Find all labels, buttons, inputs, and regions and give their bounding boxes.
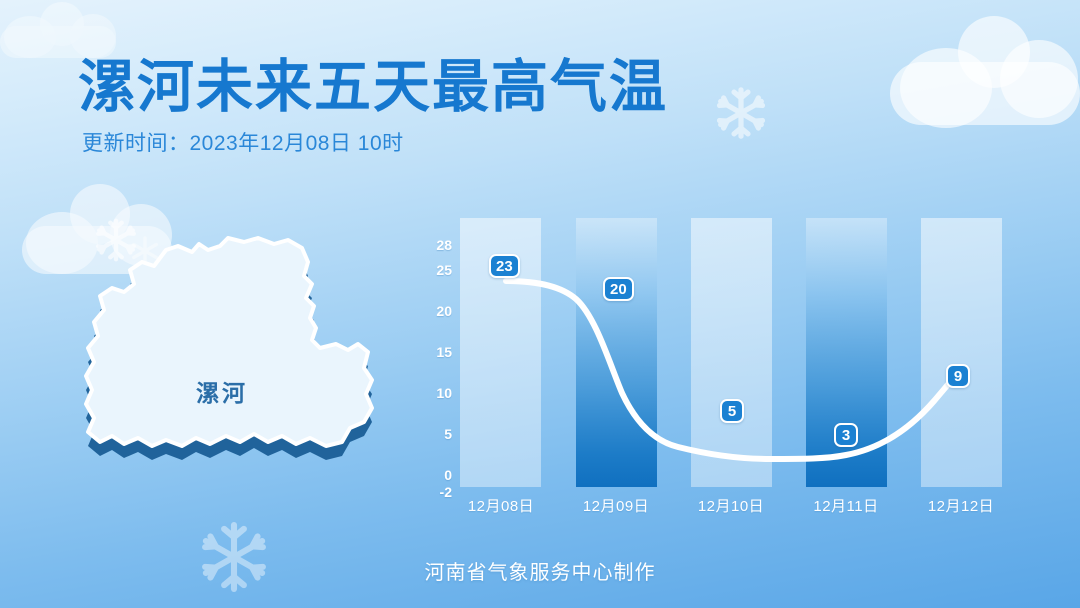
luohe-map bbox=[58, 232, 388, 514]
value-label-0: 23 bbox=[489, 254, 520, 278]
y-tick-2: 20 bbox=[436, 304, 452, 318]
cloud-top-right-icon bbox=[890, 10, 1080, 125]
chart-column-2 bbox=[691, 218, 772, 487]
chart-column-4 bbox=[921, 218, 1002, 487]
y-tick-6: 0 bbox=[444, 468, 452, 482]
value-label-3: 3 bbox=[834, 423, 858, 447]
x-tick-0: 12月08日 bbox=[446, 495, 556, 516]
chart-y-axis: 28 25 20 15 10 5 0 -2 bbox=[410, 215, 452, 495]
x-tick-2: 12月10日 bbox=[676, 495, 786, 516]
y-tick-3: 15 bbox=[436, 345, 452, 359]
map-region-label: 漯河 bbox=[196, 374, 248, 408]
cloud-top-left-small-icon bbox=[0, 0, 120, 58]
snowflake-top-center-icon bbox=[712, 84, 770, 142]
x-tick-4: 12月12日 bbox=[906, 495, 1016, 516]
weather-infographic: 漯河未来五天最高气温 更新时间：2023年12月08日 10时 漯河 28 25… bbox=[0, 0, 1080, 608]
value-label-1: 20 bbox=[603, 277, 634, 301]
y-tick-5: 5 bbox=[444, 427, 452, 441]
chart-column-1 bbox=[576, 218, 657, 487]
update-time-text: 更新时间：2023年12月08日 10时 bbox=[82, 127, 404, 157]
x-tick-1: 12月09日 bbox=[561, 495, 671, 516]
value-label-2: 5 bbox=[720, 399, 744, 423]
y-tick-0: 28 bbox=[436, 238, 452, 252]
footer-credit: 河南省气象服务中心制作 bbox=[0, 556, 1080, 585]
y-tick-1: 25 bbox=[436, 263, 452, 277]
temperature-chart: 28 25 20 15 10 5 0 -2 23 20 5 3 9 12月08日… bbox=[410, 215, 1020, 505]
chart-x-axis: 12月08日 12月09日 12月10日 12月11日 12月12日 bbox=[410, 487, 1020, 519]
page-title: 漯河未来五天最高气温 bbox=[78, 56, 668, 119]
x-tick-3: 12月11日 bbox=[791, 495, 901, 516]
y-tick-4: 10 bbox=[436, 386, 452, 400]
value-label-4: 9 bbox=[946, 364, 970, 388]
